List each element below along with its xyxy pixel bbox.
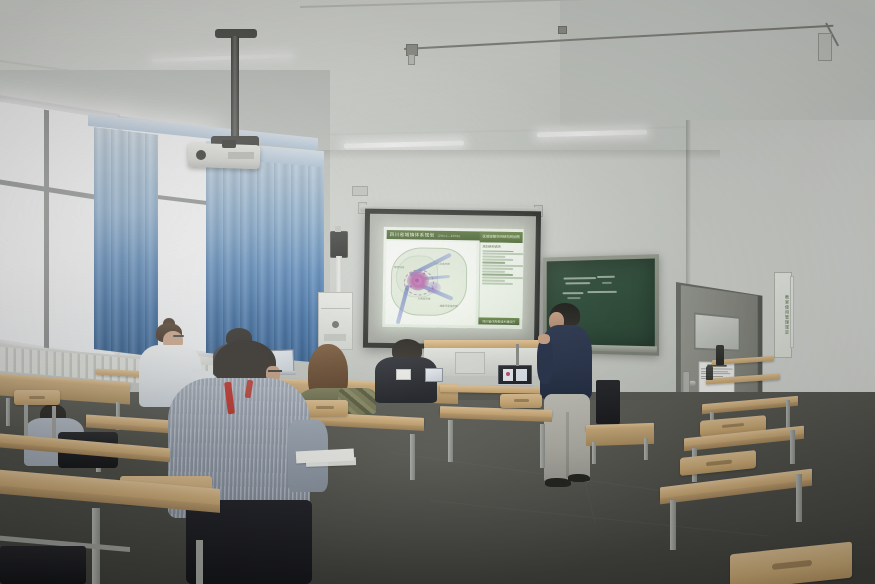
wall-fixture [352, 186, 368, 196]
speaker-bracket [335, 226, 341, 232]
slide-text-panel: 规划结构说明 [478, 242, 523, 319]
curtain-right [206, 141, 324, 363]
projector-pole [231, 36, 239, 141]
cabinet-panel [324, 334, 346, 341]
curtain-left [94, 127, 158, 357]
map-label: 攀西地区 [394, 265, 404, 269]
map-city-dot [423, 273, 425, 275]
desk-leg [592, 442, 596, 464]
panel-text-line [482, 280, 505, 282]
panel-text-line [482, 259, 513, 261]
slide-title: 四川省城镇体系规划 [390, 232, 435, 239]
wall-shadow [300, 150, 720, 160]
laptop-podium-screen[interactable] [498, 365, 532, 386]
name-badge [396, 369, 411, 380]
map-label: 川南城市群 [418, 296, 431, 300]
panel-text-line [482, 271, 505, 273]
desk-leg [786, 400, 790, 428]
slide-map: 攀西地区 川南城市群 川东北城市群 成都平原城市群 [385, 241, 476, 325]
slide-panel-heading: 规划结构说明 [482, 244, 523, 249]
wall-conduit-box [818, 33, 832, 61]
chair-back [500, 394, 542, 408]
conduit-fitting [408, 54, 415, 65]
projector-cable [222, 140, 236, 148]
map-city-dot [410, 285, 412, 287]
classroom-photo: 四川省城镇体系规划 (2014—2030) 区域城镇空间结构规划图 [0, 0, 875, 584]
laptop-screen-content [516, 369, 527, 381]
panel-text-line [482, 268, 513, 270]
thermos-bottle [706, 366, 713, 380]
person-foreground-legs [186, 500, 312, 584]
laptop-screen-marker [506, 372, 510, 376]
slide-badge: 区域城镇空间结构规划图 [480, 231, 523, 243]
wall-speaker [330, 231, 348, 258]
glasses-icon [268, 370, 282, 372]
panel-text-line [482, 253, 523, 255]
map-capital-dot [415, 278, 419, 282]
projected-slide: 四川省城镇体系规划 (2014—2030) 区域城镇空间结构规划图 [382, 227, 524, 329]
chair-leg [196, 540, 203, 584]
panel-text-line [482, 256, 505, 258]
presenter-shoe-right [568, 474, 590, 482]
panel-text-line [482, 265, 523, 267]
dark-object [596, 380, 620, 424]
desk-leg [670, 500, 676, 550]
desk-leg [448, 420, 453, 462]
map-label: 成都平原城市群 [440, 304, 458, 308]
lectern-cabinet-door[interactable] [455, 352, 485, 374]
presenter-arm [537, 338, 553, 384]
thermos-bottle [716, 345, 724, 365]
slide-footer: 四川省住房和城乡建设厅 [478, 317, 519, 325]
lectern-top [424, 340, 540, 348]
cabinet-knob-icon[interactable] [332, 321, 339, 328]
conduit-clip [558, 26, 567, 34]
map-label: 川东北城市群 [434, 262, 450, 266]
panel-text-line [482, 274, 513, 276]
desk-leg [6, 398, 10, 426]
panel-text-line [482, 277, 523, 279]
wall-sign-edge [790, 276, 794, 348]
desk-leg [410, 434, 415, 480]
presenter-hand [538, 334, 550, 344]
window-mullion [44, 110, 49, 349]
panel-text-line [482, 250, 513, 252]
chair-back [14, 390, 60, 405]
desk-leg [790, 430, 795, 464]
panel-text-line [482, 283, 513, 285]
slide-title-bar-wrap: 四川省城镇体系规划 (2014—2030) [387, 230, 477, 240]
bag-under-desk [0, 546, 86, 584]
slide-title-sub: (2014—2030) [438, 233, 461, 237]
projection-screen-frame[interactable]: 四川省城镇体系规划 (2014—2030) 区域城镇空间结构规划图 [363, 209, 541, 351]
mic-stand [516, 344, 519, 366]
wall-conduit [336, 256, 342, 294]
projector-lens-icon [196, 150, 206, 160]
desk-leg [644, 438, 648, 460]
map-city-dot [432, 288, 434, 290]
panel-text-line [482, 262, 505, 264]
projector-vent [228, 152, 254, 159]
glasses-icon [173, 335, 184, 337]
laptop-small-screen[interactable] [425, 368, 443, 382]
trouser-crease [566, 412, 569, 478]
desk-leg [540, 424, 545, 468]
desk-leg [796, 474, 802, 522]
av-control-cabinet[interactable] [318, 292, 353, 350]
